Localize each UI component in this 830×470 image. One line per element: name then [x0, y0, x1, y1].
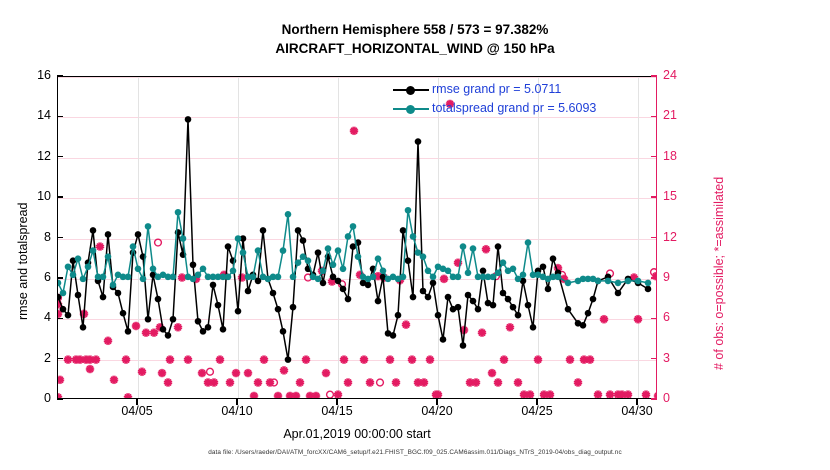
totalspread-point [235, 235, 242, 242]
rmse-point [285, 356, 292, 363]
totalspread-point [405, 207, 412, 214]
obs-possible-marker [207, 368, 214, 375]
y-axis-label-left: rmse and totalspread [16, 203, 30, 320]
totalspread-point [100, 274, 107, 281]
x-tick-label: 04/20 [407, 404, 467, 418]
y-tick-label-left: 8 [5, 230, 51, 244]
y-tick-mark-right [651, 318, 657, 319]
x-tick-label: 04/10 [207, 404, 267, 418]
x-tick-mark [536, 399, 537, 405]
totalspread-point [350, 223, 357, 230]
obs-assimilated-marker [586, 355, 594, 363]
obs-assimilated-marker [210, 378, 218, 386]
rmse-point [565, 306, 572, 313]
legend-item-rmse: rmse grand pr = 5.0711 [393, 80, 653, 99]
rmse-point [375, 298, 382, 305]
y-tick-mark-right [651, 156, 657, 157]
obs-assimilated-marker [198, 369, 206, 377]
totalspread-point [595, 278, 602, 285]
rmse-point [170, 316, 177, 323]
totalspread-point [455, 274, 462, 281]
y-tick-mark-left [57, 196, 63, 197]
rmse-point [465, 292, 472, 299]
obs-assimilated-marker [184, 355, 192, 363]
rmse-point [420, 288, 427, 295]
y-tick-mark-left [57, 277, 63, 278]
y-tick-label-left: 14 [5, 108, 51, 122]
legend-swatch-rmse [393, 84, 429, 96]
y-tick-mark-right [651, 116, 657, 117]
rmse-point [340, 286, 347, 293]
rmse-point [550, 255, 557, 262]
totalspread-point [370, 274, 377, 281]
obs-assimilated-marker [132, 322, 140, 330]
rmse-point [455, 304, 462, 311]
totalspread-point [625, 278, 632, 285]
rmse-point [435, 312, 442, 319]
totalspread-point [110, 282, 117, 289]
totalspread-point [330, 261, 337, 268]
rmse-point [405, 257, 412, 264]
totalspread-point [290, 274, 297, 281]
obs-assimilated-marker [606, 390, 614, 398]
totalspread-point [510, 265, 517, 272]
totalspread-point [470, 245, 477, 252]
obs-possible-marker [155, 239, 162, 246]
obs-assimilated-marker [296, 378, 304, 386]
totalspread-point [280, 247, 287, 254]
rmse-point [205, 324, 212, 331]
obs-assimilated-marker [408, 355, 416, 363]
obs-assimilated-marker [104, 337, 112, 345]
totalspread-point [170, 274, 177, 281]
rmse-point [510, 304, 517, 311]
totalspread-point [70, 272, 77, 279]
obs-assimilated-marker [526, 390, 534, 398]
obs-assimilated-marker [392, 378, 400, 386]
rmse-point [75, 292, 82, 299]
obs-assimilated-marker [226, 378, 234, 386]
obs-assimilated-marker [58, 376, 64, 384]
totalspread-point [430, 274, 437, 281]
rmse-point [115, 290, 122, 297]
y-axis-label-right: # of obs: o=possible; *=assimilated [712, 177, 726, 370]
totalspread-point [335, 247, 342, 254]
obs-assimilated-marker [110, 376, 118, 384]
totalspread-point [125, 274, 132, 281]
obs-assimilated-marker [634, 315, 642, 323]
y-tick-mark-left [57, 358, 63, 359]
rmse-point [295, 227, 302, 234]
totalspread-point [320, 268, 327, 275]
plot-area [57, 76, 657, 399]
obs-assimilated-marker [124, 393, 132, 398]
totalspread-point [645, 280, 652, 287]
y-tick-mark-left [57, 156, 63, 157]
x-tick-label: 04/30 [607, 404, 667, 418]
obs-assimilated-marker [334, 390, 342, 398]
totalspread-point [520, 272, 527, 279]
rmse-point [210, 282, 217, 289]
rmse-point [155, 296, 162, 303]
x-tick-mark [336, 399, 337, 405]
y-tick-mark-left [57, 116, 63, 117]
totalspread-point [195, 272, 202, 279]
x-tick-mark [636, 399, 637, 405]
rmse-point [530, 324, 537, 331]
rmse-point [185, 116, 192, 123]
title-line-1: Northern Hemisphere 558 / 573 = 97.382% [0, 20, 830, 39]
rmse-point [80, 324, 87, 331]
y-tick-label-left: 12 [5, 149, 51, 163]
rmse-point [365, 282, 372, 289]
totalspread-point [500, 259, 507, 266]
rmse-point [430, 280, 437, 287]
rmse-point [460, 342, 467, 349]
x-tick-mark [136, 399, 137, 405]
y-tick-label-right: 18 [663, 149, 703, 163]
obs-assimilated-marker [386, 355, 394, 363]
obs-assimilated-marker [232, 369, 240, 377]
rmse-point [90, 227, 97, 234]
obs-assimilated-marker [440, 275, 448, 283]
rmse-point [470, 298, 477, 305]
rmse-point [480, 268, 487, 275]
rmse-point [275, 306, 282, 313]
totalspread-point [85, 263, 92, 270]
totalspread-point [275, 274, 282, 281]
rmse-point [645, 286, 652, 293]
obs-assimilated-marker [138, 368, 146, 376]
obs-assimilated-marker [420, 378, 428, 386]
obs-assimilated-marker [546, 390, 554, 398]
y-tick-mark-left [57, 398, 63, 399]
totalspread-point [255, 247, 262, 254]
rmse-point [590, 296, 597, 303]
rmse-point [525, 302, 532, 309]
obs-assimilated-marker [360, 355, 368, 363]
y-tick-mark-left [57, 318, 63, 319]
rmse-point [280, 328, 287, 335]
rmse-point [270, 290, 277, 297]
obs-assimilated-marker [96, 242, 104, 250]
totalspread-point [200, 265, 207, 272]
obs-assimilated-marker [624, 390, 632, 398]
totalspread-point [400, 274, 407, 281]
rmse-point [540, 263, 547, 270]
totalspread-point [150, 265, 157, 272]
rmse-point [440, 336, 447, 343]
rmse-point [145, 316, 152, 323]
y-tick-mark-left [57, 237, 63, 238]
obs-assimilated-marker [434, 390, 442, 398]
rmse-point [500, 290, 507, 297]
x-tick-mark [436, 399, 437, 405]
obs-assimilated-marker [594, 390, 602, 398]
obs-assimilated-marker [574, 378, 582, 386]
rmse-point [490, 302, 497, 309]
y-tick-label-right: 9 [663, 270, 703, 284]
rmse-point [505, 296, 512, 303]
rmse-point [515, 312, 522, 319]
x-axis-label: Apr.01,2019 00:00:00 start [57, 427, 657, 441]
obs-assimilated-marker [482, 245, 490, 253]
totalspread-point [355, 253, 362, 260]
rmse-point [395, 312, 402, 319]
rmse-point [135, 231, 142, 238]
obs-assimilated-marker [494, 378, 502, 386]
y-tick-label-left: 2 [5, 351, 51, 365]
rmse-point [615, 290, 622, 297]
rmse-point [165, 332, 172, 339]
obs-assimilated-marker [322, 369, 330, 377]
rmse-point [60, 306, 67, 313]
totalspread-point [495, 270, 502, 277]
totalspread-point [180, 235, 187, 242]
chart-page: Northern Hemisphere 558 / 573 = 97.382% … [0, 0, 830, 470]
totalspread-point [250, 274, 257, 281]
obs-assimilated-marker [250, 392, 258, 398]
totalspread-point [410, 233, 417, 240]
rmse-point [100, 294, 107, 301]
rmse-point [425, 294, 432, 301]
y-tick-label-left: 0 [5, 391, 51, 405]
totalspread-point [565, 280, 572, 287]
rmse-point [545, 286, 552, 293]
totalspread-point [460, 243, 467, 250]
obs-assimilated-marker [350, 127, 358, 135]
obs-assimilated-marker [216, 355, 224, 363]
obs-assimilated-marker [500, 355, 508, 363]
totalspread-point [65, 263, 72, 270]
rmse-point [125, 328, 132, 335]
y-tick-mark-right [651, 358, 657, 359]
y-tick-label-left: 10 [5, 189, 51, 203]
legend-swatch-totalspread [393, 103, 429, 115]
y-tick-mark-right [651, 277, 657, 278]
totalspread-point [375, 255, 382, 262]
totalspread-point [90, 247, 97, 254]
rmse-point [335, 278, 342, 285]
totalspread-point [315, 276, 322, 283]
obs-assimilated-marker [58, 393, 62, 398]
obs-assimilated-marker [92, 355, 100, 363]
obs-assimilated-marker [274, 392, 282, 398]
totalspread-point [175, 209, 182, 216]
totalspread-point [295, 259, 302, 266]
obs-assimilated-marker [166, 355, 174, 363]
obs-assimilated-marker [254, 378, 262, 386]
obs-assimilated-marker [260, 355, 268, 363]
obs-assimilated-marker [158, 369, 166, 377]
totalspread-point [325, 245, 332, 252]
obs-assimilated-marker [654, 392, 656, 398]
y-tick-mark-right [651, 75, 657, 76]
rmse-point [300, 237, 307, 244]
rmse-point [495, 243, 502, 250]
title-line-2: AIRCRAFT_HORIZONTAL_WIND @ 150 hPa [0, 39, 830, 58]
obs-assimilated-marker [566, 355, 574, 363]
totalspread-point [140, 276, 147, 283]
rmse-point [390, 332, 397, 339]
rmse-point [260, 227, 267, 234]
totalspread-point [75, 255, 82, 262]
totalspread-point [58, 280, 61, 287]
legend-label-rmse: rmse grand pr = 5.0711 [432, 80, 561, 99]
totalspread-point [60, 290, 67, 297]
totalspread-point [635, 278, 642, 285]
obs-assimilated-marker [642, 390, 650, 398]
totalspread-point [525, 239, 532, 246]
y-tick-mark-left [57, 75, 63, 76]
obs-assimilated-marker [402, 320, 410, 328]
y-tick-label-left: 16 [5, 68, 51, 82]
totalspread-point [80, 276, 87, 283]
y-tick-mark-right [651, 237, 657, 238]
totalspread-point [135, 265, 142, 272]
obs-assimilated-marker [122, 355, 130, 363]
y-tick-label-right: 0 [663, 391, 703, 405]
chart-title: Northern Hemisphere 558 / 573 = 97.382% … [0, 20, 830, 58]
obs-possible-marker [377, 379, 384, 386]
rmse-point [190, 261, 197, 268]
obs-assimilated-marker [514, 378, 522, 386]
x-tick-label: 04/25 [507, 404, 567, 418]
obs-assimilated-marker [478, 329, 486, 337]
obs-assimilated-marker [302, 355, 310, 363]
rmse-point [580, 322, 587, 329]
obs-assimilated-marker [366, 378, 374, 386]
rmse-point [315, 249, 322, 256]
data-series-layer [58, 77, 656, 398]
obs-assimilated-marker [142, 329, 150, 337]
obs-assimilated-marker [472, 378, 480, 386]
totalspread-point [420, 253, 427, 260]
rmse-point [160, 326, 167, 333]
totalspread-point [340, 265, 347, 272]
rmse-point [585, 310, 592, 317]
obs-assimilated-marker [506, 323, 514, 331]
rmse-point [195, 318, 202, 325]
obs-assimilated-marker [280, 366, 288, 374]
obs-assimilated-marker [426, 355, 434, 363]
rmse-point [235, 308, 242, 315]
rmse-point [220, 326, 227, 333]
rmse-point [410, 294, 417, 301]
obs-assimilated-marker [534, 355, 542, 363]
rmse-point [120, 310, 127, 317]
totalspread-point [465, 270, 472, 277]
totalspread-point [145, 223, 152, 230]
rmse-point [215, 302, 222, 309]
totalspread-point [555, 274, 562, 281]
totalspread-point [240, 249, 247, 256]
totalspread-point [605, 278, 612, 285]
totalspread-point [345, 233, 352, 240]
x-tick-label: 04/05 [107, 404, 167, 418]
obs-assimilated-marker [86, 365, 94, 373]
totalspread-point [425, 268, 432, 275]
totalspread-point [105, 253, 112, 260]
totalspread-point [305, 257, 312, 264]
rmse-point [475, 306, 482, 313]
obs-assimilated-marker [64, 355, 72, 363]
totalspread-point [230, 268, 237, 275]
x-tick-mark [236, 399, 237, 405]
obs-assimilated-marker [164, 378, 172, 386]
y-tick-label-right: 3 [663, 351, 703, 365]
rmse-point [415, 138, 422, 145]
rmse-point [290, 304, 297, 311]
y-tick-label-left: 4 [5, 310, 51, 324]
rmse-point [65, 312, 72, 319]
data-file-footer: data file: /Users/raeder/DAI/ATM_forcXX/… [0, 449, 830, 456]
y-tick-mark-right [651, 196, 657, 197]
totalspread-point [445, 268, 452, 275]
plot-inner [58, 77, 656, 398]
obs-possible-marker [327, 391, 334, 398]
y-tick-label-right: 21 [663, 108, 703, 122]
totalspread-point [380, 268, 387, 275]
y-tick-label-right: 12 [663, 230, 703, 244]
y-tick-label-right: 6 [663, 310, 703, 324]
obs-assimilated-marker [292, 392, 300, 398]
y-tick-label-right: 24 [663, 68, 703, 82]
legend-item-totalspread: totalspread grand pr = 5.6093 [393, 99, 653, 118]
totalspread-point [285, 211, 292, 218]
legend-label-totalspread: totalspread grand pr = 5.6093 [432, 99, 596, 118]
obs-assimilated-marker [488, 369, 496, 377]
rmse-point [245, 288, 252, 295]
totalspread-point [615, 280, 622, 287]
y-tick-label-left: 6 [5, 270, 51, 284]
rmse-point [400, 227, 407, 234]
chart-legend: rmse grand pr = 5.0711 totalspread grand… [393, 80, 653, 118]
obs-assimilated-marker [344, 378, 352, 386]
y-tick-label-right: 15 [663, 189, 703, 203]
x-tick-label: 04/15 [307, 404, 367, 418]
rmse-point [105, 231, 112, 238]
rmse-point [445, 294, 452, 301]
obs-assimilated-marker [312, 392, 320, 398]
totalspread-point [225, 274, 232, 281]
y-tick-mark-right [651, 398, 657, 399]
obs-assimilated-marker [174, 323, 182, 331]
rmse-point [225, 243, 232, 250]
rmse-point [345, 296, 352, 303]
totalspread-point [130, 243, 137, 250]
obs-assimilated-marker [244, 369, 252, 377]
obs-assimilated-marker [340, 355, 348, 363]
obs-assimilated-marker [600, 315, 608, 323]
